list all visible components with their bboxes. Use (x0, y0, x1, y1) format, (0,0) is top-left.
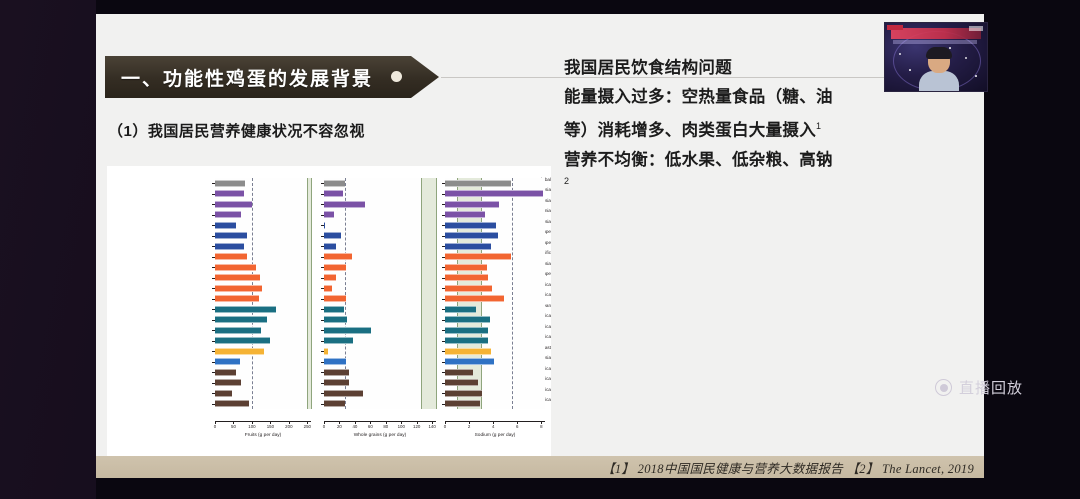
chart-bar (324, 264, 346, 271)
chart-bar (215, 316, 267, 323)
x-axis-tick-label: 50 (231, 424, 236, 429)
row-tick (442, 183, 445, 184)
row-tick (212, 194, 215, 195)
x-axis-tick-label: 150 (267, 424, 274, 429)
chart-bar (445, 243, 491, 250)
presenter-hair (926, 47, 952, 59)
chart-bar (215, 264, 256, 271)
chart-bar (324, 358, 346, 365)
chart-bar (215, 369, 236, 376)
webcam-subtitle-banner (893, 40, 977, 44)
chart-bar (324, 180, 345, 187)
chart-bar (445, 390, 482, 397)
row-tick (321, 351, 324, 352)
slide-citation-bar: 【1】 2018中国国民健康与营养大数据报告 【2】 The Lancet, 2… (96, 456, 984, 478)
slide-title-text: 一、功能性鸡蛋的发展背景 (105, 64, 373, 91)
chart-bar (215, 379, 241, 386)
row-tick (212, 267, 215, 268)
chart-bar (215, 190, 244, 197)
row-tick (442, 351, 445, 352)
row-tick (321, 246, 324, 247)
chart-bar (445, 348, 491, 355)
row-tick (212, 351, 215, 352)
chart-bar (215, 327, 261, 334)
x-axis-tick-label: 60 (368, 424, 373, 429)
chart-bar (445, 190, 543, 197)
chart-panel-sodium: 02468Sodium (g per day) (445, 178, 545, 409)
chart-bar (324, 285, 332, 292)
row-tick (321, 257, 324, 258)
row-tick (321, 204, 324, 205)
row-tick (442, 362, 445, 363)
chart-bar (445, 180, 511, 187)
x-axis-title: Fruits (g per day) (215, 433, 311, 438)
chart-bar (324, 295, 346, 302)
chart-bar (445, 274, 488, 281)
row-tick (321, 299, 324, 300)
optimal-band-edge (307, 178, 308, 409)
chart-bar (215, 274, 260, 281)
webcam-logo (969, 26, 983, 31)
chart-bar (445, 316, 490, 323)
row-tick (212, 362, 215, 363)
chart-bar (445, 400, 480, 407)
slide-subtitle: （1）我国居民营养健康状况不容忽视 (108, 120, 365, 141)
row-tick (442, 288, 445, 289)
row-tick (442, 309, 445, 310)
chart-bar (445, 201, 499, 208)
chart-bar (215, 358, 240, 365)
row-tick (321, 215, 324, 216)
reference-line (512, 178, 513, 409)
x-axis-tick-label: 140 (428, 424, 435, 429)
presenter-webcam[interactable] (884, 22, 988, 92)
webcam-live-tag (887, 25, 903, 30)
row-tick (442, 320, 445, 321)
optimal-band-edge (311, 178, 312, 409)
chart-bar (324, 243, 336, 250)
row-tick (321, 236, 324, 237)
x-axis-tick-label: 100 (398, 424, 405, 429)
x-axis-tick-label: 120 (413, 424, 420, 429)
chart-bar (445, 306, 476, 313)
row-tick (212, 372, 215, 373)
citation-text: 【1】 2018中国国民健康与营养大数据报告 【2】 The Lancet, 2… (602, 458, 974, 477)
star-decor (975, 75, 977, 77)
star-decor (965, 57, 967, 59)
chart-bar (215, 253, 247, 260)
chart-bar (215, 243, 244, 250)
x-axis-tick-label: 0 (323, 424, 325, 429)
x-axis-title: Whole grains (g per day) (324, 433, 436, 438)
row-tick (321, 330, 324, 331)
webcam-title-banner (891, 28, 981, 39)
banner-dot-icon (391, 71, 402, 82)
chart-bar (215, 180, 245, 187)
optimal-band-edge (436, 178, 437, 409)
chart-bar (324, 348, 328, 355)
screen-root: 一、功能性鸡蛋的发展背景 （1）我国居民营养健康状况不容忽视 GlobalEas… (0, 0, 1080, 499)
chart-bar (324, 253, 352, 260)
row-tick (442, 299, 445, 300)
row-tick (442, 267, 445, 268)
row-tick (321, 372, 324, 373)
row-tick (442, 393, 445, 394)
star-decor (909, 69, 911, 71)
row-tick (321, 267, 324, 268)
banner-shape: 一、功能性鸡蛋的发展背景 (105, 56, 439, 98)
x-axis-tick-label: 0 (444, 424, 446, 429)
row-tick (212, 320, 215, 321)
chart-bar (215, 337, 270, 344)
row-tick (442, 204, 445, 205)
body-line-2-superscript: 1 (816, 121, 821, 131)
row-tick (212, 309, 215, 310)
chart-bar (215, 211, 241, 218)
x-axis-tick-label: 100 (248, 424, 255, 429)
x-axis-tick-label: 0 (214, 424, 216, 429)
chart-bar (445, 222, 496, 229)
x-axis-tick-label: 80 (383, 424, 388, 429)
row-tick (321, 309, 324, 310)
x-axis-tick-label: 250 (304, 424, 311, 429)
chart-bar (324, 306, 344, 313)
chart-bar (445, 211, 485, 218)
row-tick (212, 215, 215, 216)
chart-bar (215, 348, 264, 355)
record-circle-icon (935, 379, 952, 396)
x-axis-tick-label: 4 (492, 424, 494, 429)
row-tick (321, 341, 324, 342)
row-tick (212, 299, 215, 300)
x-axis-line (215, 421, 311, 422)
row-tick (212, 383, 215, 384)
chart-bar (215, 201, 252, 208)
row-tick (321, 362, 324, 363)
chart-bar (324, 201, 365, 208)
row-tick (442, 330, 445, 331)
row-tick (321, 194, 324, 195)
row-tick (321, 383, 324, 384)
chart-bar (445, 327, 488, 334)
chart-bar (215, 306, 276, 313)
chart-bar (215, 295, 259, 302)
chart-bar (324, 400, 345, 407)
chart-bar (324, 232, 341, 239)
row-tick (442, 236, 445, 237)
presenter-figure (919, 49, 959, 92)
star-decor (899, 53, 901, 55)
x-axis-tick-label: 40 (352, 424, 357, 429)
row-tick (212, 278, 215, 279)
row-tick (212, 225, 215, 226)
row-tick (212, 246, 215, 247)
chart-bar (445, 369, 473, 376)
chart-bar (215, 232, 247, 239)
reference-line (252, 178, 253, 409)
presenter-body (919, 71, 959, 92)
chart-bar (324, 379, 349, 386)
x-axis-line (445, 421, 545, 422)
live-replay-label: 直播回放 (959, 377, 1023, 398)
body-line-3-superscript: 2 (564, 175, 969, 187)
row-tick (442, 372, 445, 373)
chart-bar (215, 400, 249, 407)
row-tick (442, 225, 445, 226)
row-tick (212, 236, 215, 237)
x-axis-tick-label: 200 (285, 424, 292, 429)
row-tick (212, 341, 215, 342)
chart-bar (445, 358, 494, 365)
row-tick (321, 320, 324, 321)
row-tick (442, 246, 445, 247)
chart-bar (324, 390, 363, 397)
row-tick (212, 404, 215, 405)
row-tick (212, 330, 215, 331)
x-axis-tick-label: 8 (540, 424, 542, 429)
presentation-slide: 一、功能性鸡蛋的发展背景 （1）我国居民营养健康状况不容忽视 GlobalEas… (96, 14, 984, 478)
x-axis-tick-label: 6 (516, 424, 518, 429)
lancet-diet-chart: GlobalEast AsiaSoutheast AsiaOceaniaCent… (107, 166, 551, 456)
chart-panel-fruits: 050100150200250Fruits (g per day) (215, 178, 311, 409)
chart-bar (324, 327, 371, 334)
chart-bar (445, 264, 487, 271)
row-tick (321, 393, 324, 394)
live-replay-watermark: 直播回放 (935, 377, 1023, 398)
x-axis-tick-label: 2 (468, 424, 470, 429)
optimal-band-edge (421, 178, 422, 409)
chart-bar (215, 222, 236, 229)
chart-bar (324, 316, 347, 323)
chart-bar (445, 295, 504, 302)
row-tick (321, 288, 324, 289)
chart-bar (324, 369, 349, 376)
chart-bar (445, 285, 492, 292)
row-tick (212, 183, 215, 184)
x-axis-line (324, 421, 436, 422)
x-axis-tick-label: 20 (337, 424, 342, 429)
row-tick (212, 204, 215, 205)
chart-bar (445, 379, 478, 386)
optimal-intake-band (421, 178, 436, 409)
chart-bar (215, 285, 262, 292)
row-tick (212, 257, 215, 258)
row-tick (442, 215, 445, 216)
row-tick (212, 393, 215, 394)
chart-bar (324, 190, 343, 197)
row-tick (321, 183, 324, 184)
chart-panel-whole_grains: 020406080100120140Whole grains (g per da… (324, 178, 436, 409)
row-tick (442, 278, 445, 279)
row-tick (442, 257, 445, 258)
chart-bar (215, 390, 232, 397)
row-tick (442, 383, 445, 384)
row-tick (321, 404, 324, 405)
chart-bar (324, 222, 325, 229)
chart-bar (324, 337, 353, 344)
chart-bar (445, 232, 498, 239)
body-line-3: 营养不均衡：低水果、低杂粮、高钠 (564, 146, 969, 175)
row-tick (212, 288, 215, 289)
chart-bar (445, 337, 488, 344)
chart-bar (324, 211, 334, 218)
body-line-2: 等）消耗增多、肉类蛋白大量摄入1 (564, 112, 969, 146)
row-tick (321, 225, 324, 226)
chart-bar (445, 253, 511, 260)
row-tick (442, 194, 445, 195)
row-tick (442, 341, 445, 342)
row-tick (442, 404, 445, 405)
row-tick (321, 278, 324, 279)
chart-bar (324, 274, 336, 281)
x-axis-title: Sodium (g per day) (445, 433, 545, 438)
